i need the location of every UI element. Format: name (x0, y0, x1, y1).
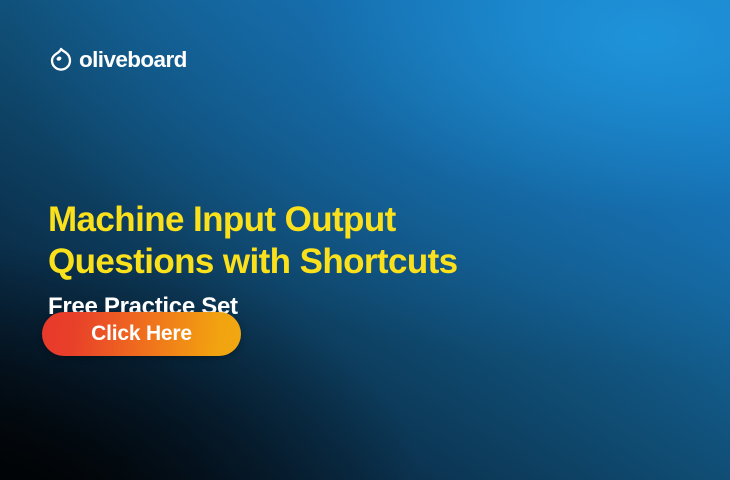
click-here-button[interactable]: Click Here (42, 312, 241, 356)
oliveboard-droplet-icon (48, 47, 74, 73)
page-title: Machine Input Output Questions with Shor… (48, 199, 608, 282)
oliveboard-logo[interactable]: oliveboard (48, 47, 187, 73)
banner-content: oliveboard Machine Input Output Question… (0, 0, 730, 480)
oliveboard-logo-text: oliveboard (79, 49, 187, 72)
promo-banner: oliveboard Machine Input Output Question… (0, 0, 730, 480)
